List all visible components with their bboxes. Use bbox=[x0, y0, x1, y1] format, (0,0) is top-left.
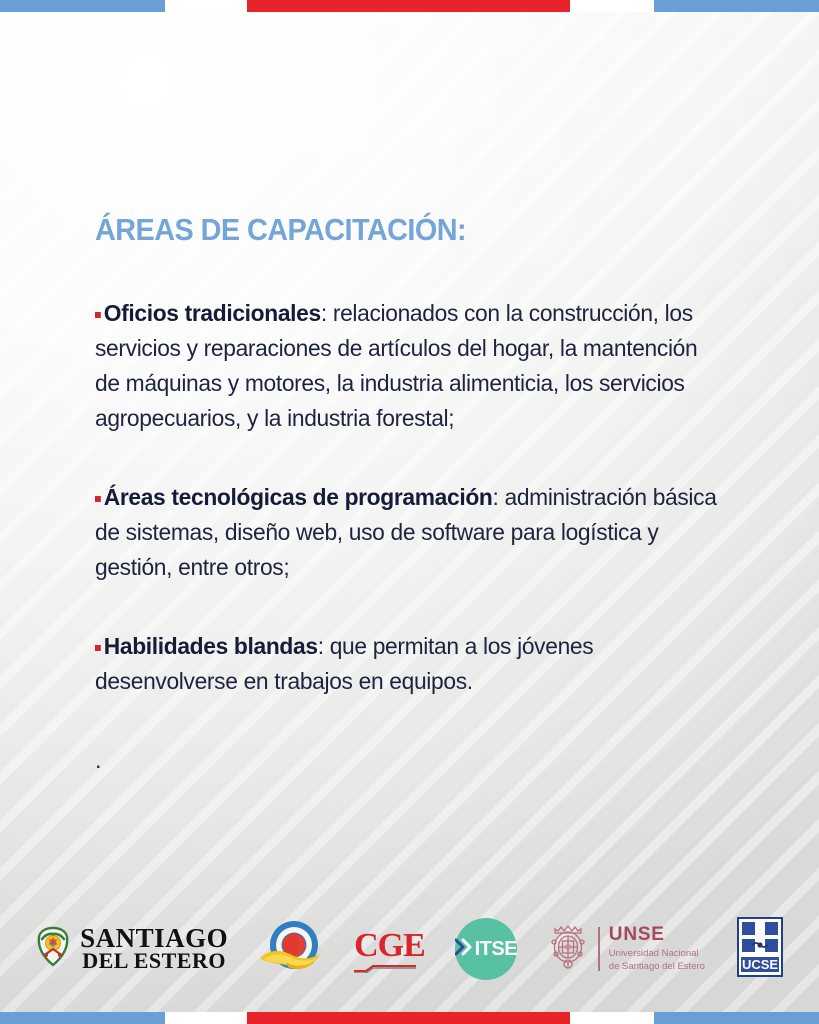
flag-segment-white-left bbox=[165, 0, 248, 12]
unse-title: UNSE bbox=[609, 925, 705, 946]
bullet-lead-label: Áreas tecnológicas de programación bbox=[104, 484, 493, 510]
flag-segment-red-center bbox=[247, 0, 570, 12]
santiago-del-estero-wordmark: SANTIAGO DEL ESTERO bbox=[80, 926, 228, 971]
logo-strip: SANTIAGO DEL ESTERO bbox=[0, 912, 819, 986]
top-flag-bar bbox=[0, 0, 819, 12]
logo-itse: ITSE bbox=[455, 918, 517, 980]
logo-gobierno-emblem bbox=[258, 918, 324, 981]
flag-segment-white-left bbox=[165, 1012, 248, 1024]
square-bullet-icon bbox=[95, 496, 101, 502]
cge-rule-icon bbox=[354, 960, 416, 969]
unse-crest-icon bbox=[547, 920, 589, 979]
ucse-shield-icon: UCSE bbox=[735, 916, 785, 983]
cge-wordmark: CGE bbox=[354, 929, 425, 963]
trailing-period: . bbox=[95, 743, 745, 778]
flag-segment-blue-right bbox=[654, 0, 819, 12]
cockade-emblem-icon bbox=[258, 918, 324, 981]
square-bullet-icon bbox=[95, 645, 101, 651]
flag-segment-red-center bbox=[247, 1012, 570, 1024]
itse-wordmark: ITSE bbox=[475, 938, 517, 961]
chevron-right-icon bbox=[455, 937, 473, 962]
flag-segment-blue-left bbox=[0, 0, 165, 12]
logo-cge: CGE bbox=[354, 929, 425, 969]
flag-segment-blue-right bbox=[654, 1012, 819, 1024]
bullet-lead-label: Habilidades blandas bbox=[104, 633, 318, 659]
ucse-wordmark: UCSE bbox=[742, 957, 778, 972]
poster-canvas: ÁREAS DE CAPACITACIÓN: Oficios tradicion… bbox=[0, 0, 819, 1024]
square-bullet-icon bbox=[95, 312, 101, 318]
logo-unse: UNSE Universidad Nacional de Santiago de… bbox=[547, 920, 705, 979]
bullet-item-oficios-tradicionales: Oficios tradicionales: relacionados con … bbox=[95, 296, 726, 436]
unse-subtitle-line-1: Universidad Nacional bbox=[609, 948, 705, 960]
bottom-flag-bar bbox=[0, 1012, 819, 1024]
unse-subtitle-line-2: de Santiago del Estero bbox=[609, 961, 705, 973]
flag-segment-blue-left bbox=[0, 1012, 165, 1024]
main-content: ÁREAS DE CAPACITACIÓN: Oficios tradicion… bbox=[95, 212, 745, 778]
sde-line-2: DEL ESTERO bbox=[82, 951, 226, 971]
coat-of-arms-icon bbox=[34, 925, 72, 974]
flag-segment-white-right bbox=[570, 0, 654, 12]
unse-wordmark: UNSE Universidad Nacional de Santiago de… bbox=[609, 925, 705, 974]
bullet-item-areas-tecnologicas: Áreas tecnológicas de programación: admi… bbox=[95, 480, 726, 585]
page-title: ÁREAS DE CAPACITACIÓN: bbox=[95, 212, 700, 248]
bullet-lead-label: Oficios tradicionales bbox=[104, 300, 321, 326]
unse-divider bbox=[598, 927, 600, 971]
logo-santiago-del-estero: SANTIAGO DEL ESTERO bbox=[34, 925, 228, 974]
flag-segment-white-right bbox=[570, 1012, 654, 1024]
bullet-item-habilidades-blandas: Habilidades blandas: que permitan a los … bbox=[95, 629, 726, 699]
logo-ucse: UCSE bbox=[735, 916, 785, 983]
